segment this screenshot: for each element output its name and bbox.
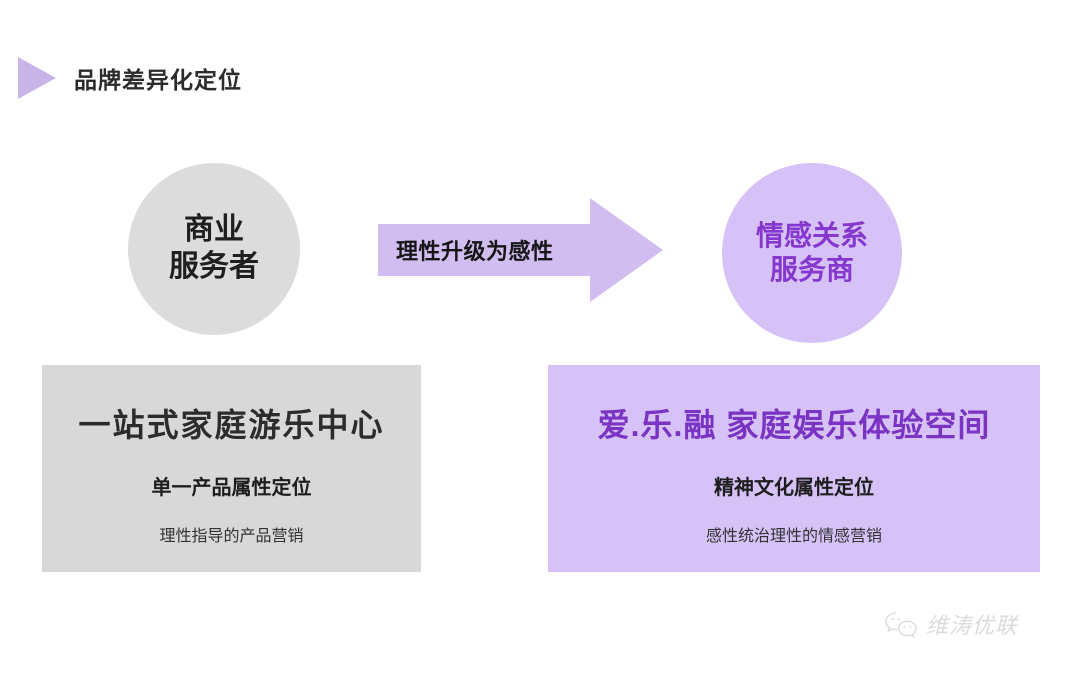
arrow-label: 理性升级为感性 bbox=[396, 198, 554, 302]
page-title: 品牌差异化定位 bbox=[74, 61, 242, 95]
right-role-circle: 情感关系 服务商 bbox=[722, 163, 902, 343]
left-positioning-panel: 一站式家庭游乐中心 单一产品属性定位 理性指导的产品营销 bbox=[42, 365, 421, 572]
right-panel-subtitle: 精神文化属性定位 bbox=[714, 471, 874, 500]
left-circle-line-2: 服务者 bbox=[169, 249, 259, 286]
triangle-right-icon bbox=[18, 57, 56, 99]
left-panel-note: 理性指导的产品营销 bbox=[159, 522, 303, 546]
left-panel-title: 一站式家庭游乐中心 bbox=[78, 400, 384, 446]
watermark: 维涛优联 bbox=[884, 608, 1018, 640]
right-panel-note: 感性统治理性的情感营销 bbox=[706, 522, 882, 546]
right-circle-line-2: 服务商 bbox=[770, 253, 854, 287]
left-panel-subtitle: 单一产品属性定位 bbox=[152, 471, 312, 500]
left-role-circle: 商业 服务者 bbox=[128, 163, 300, 335]
slide-header: 品牌差异化定位 bbox=[18, 57, 242, 99]
slide-canvas: 品牌差异化定位 商业 服务者 理性升级为感性 情感关系 服务商 一站式家庭游乐中… bbox=[0, 0, 1080, 675]
wechat-icon bbox=[884, 610, 918, 638]
right-panel-title: 爱.乐.融 家庭娱乐体验空间 bbox=[598, 400, 991, 446]
watermark-text: 维涛优联 bbox=[926, 608, 1018, 640]
right-positioning-panel: 爱.乐.融 家庭娱乐体验空间 精神文化属性定位 感性统治理性的情感营销 bbox=[548, 365, 1040, 572]
transition-arrow: 理性升级为感性 bbox=[378, 198, 663, 302]
left-circle-line-1: 商业 bbox=[184, 212, 244, 249]
right-circle-line-1: 情感关系 bbox=[756, 219, 868, 253]
